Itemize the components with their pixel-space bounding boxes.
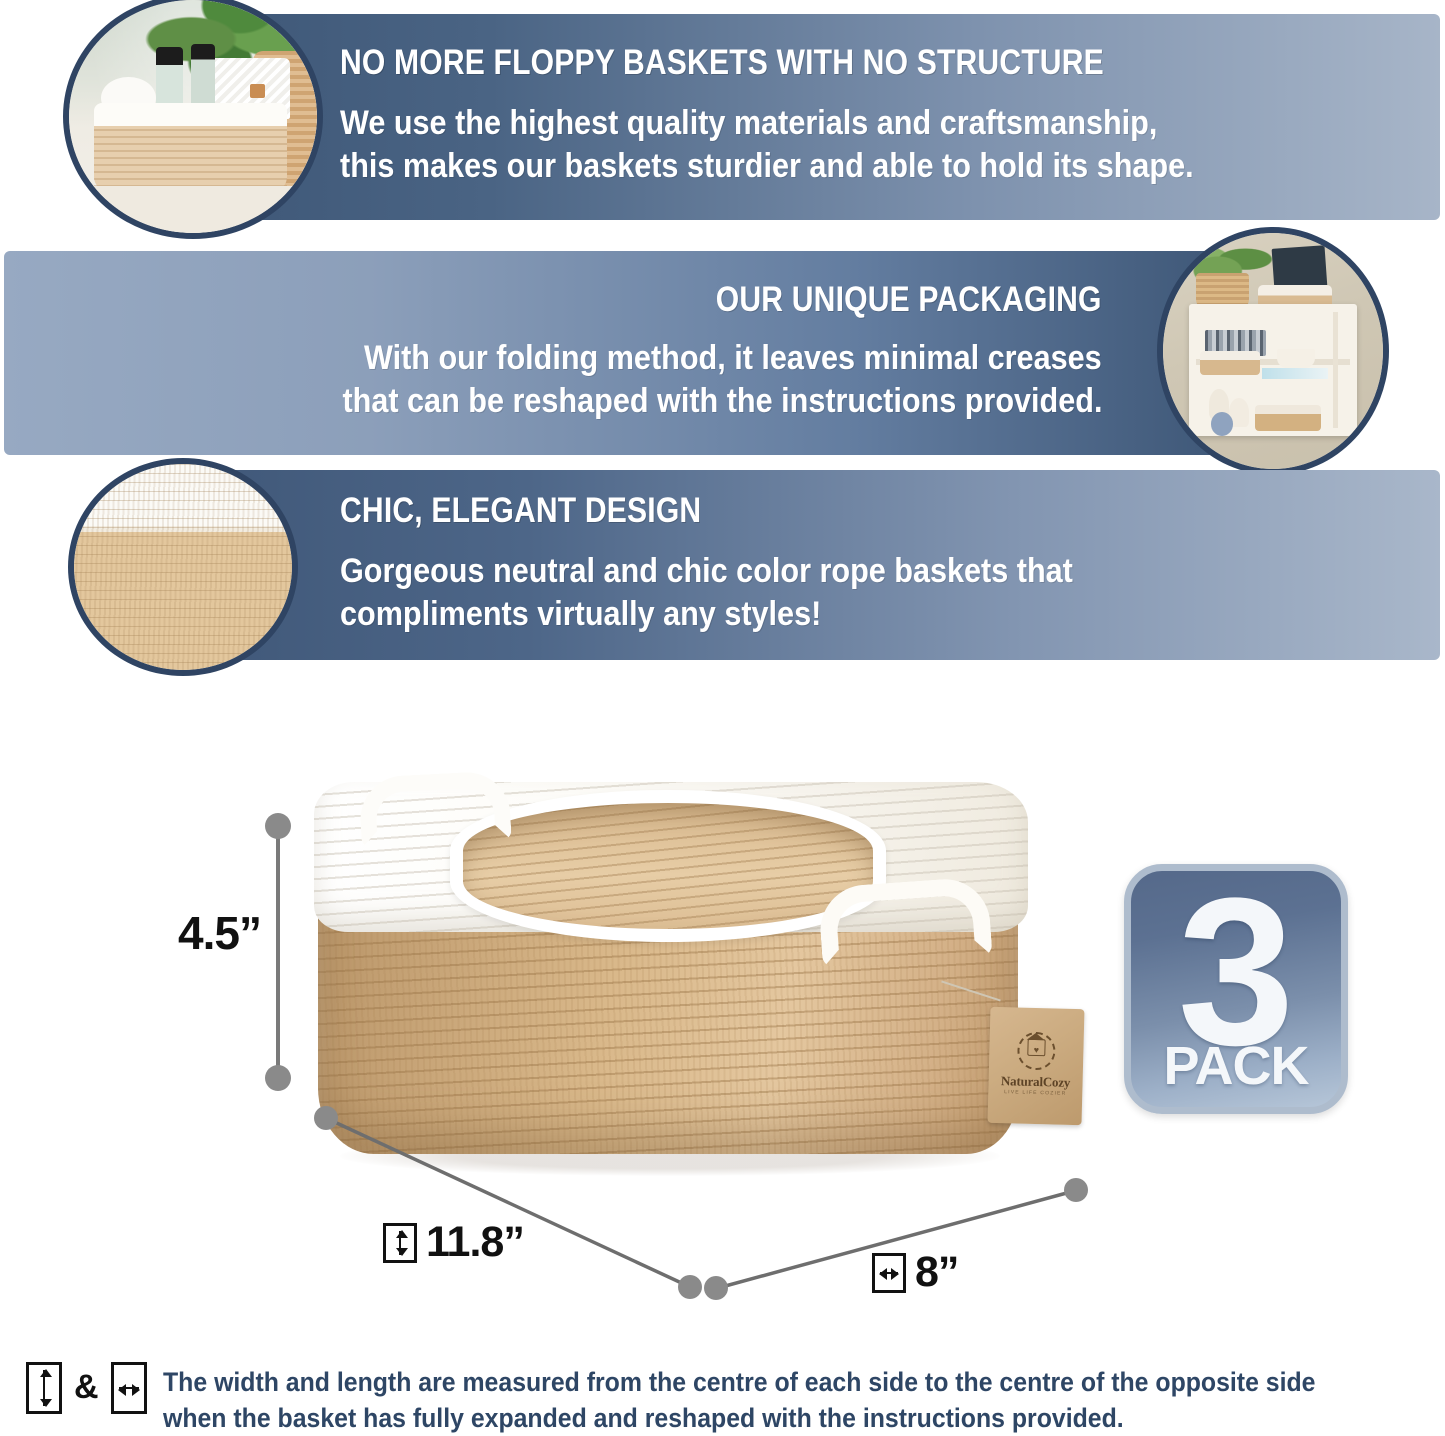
feature-2-body-line-1: With our folding method, it leaves minim…: [364, 337, 1102, 381]
feature-2-body-line-2: that can be reshaped with the instructio…: [342, 380, 1102, 424]
vertical-arrow-icon: [383, 1223, 417, 1263]
dimension-length: 11.8”: [383, 1218, 524, 1267]
horizontal-arrow-icon: [872, 1253, 906, 1293]
horizontal-arrow-icon: [111, 1362, 147, 1414]
feature-1-body-line-2: this makes our baskets sturdier and able…: [340, 145, 1303, 189]
feature-3-photo: [68, 458, 298, 676]
feature-1-title: NO MORE FLOPPY BASKETS WITH NO STRUCTURE: [340, 45, 1260, 82]
dimension-width: 8”: [872, 1248, 958, 1297]
brand-tagline: LIVE LIFE COZIER: [988, 1089, 1082, 1097]
feature-banner-3: CHIC, ELEGANT DESIGN Gorgeous neutral an…: [222, 470, 1440, 660]
feature-banner-2: OUR UNIQUE PACKAGING With our folding me…: [4, 251, 1220, 455]
measurement-footnote: & The width and length are measured from…: [26, 1362, 1426, 1436]
basket-handle-right: [817, 876, 992, 968]
feature-1-body-line-1: We use the highest quality materials and…: [340, 102, 1303, 146]
feature-3-body-line-2: compliments virtually any styles!: [340, 593, 1303, 637]
vertical-arrow-icon: [26, 1362, 62, 1414]
basket-handle-left: [358, 770, 511, 848]
feature-1-photo: [63, 0, 323, 239]
feature-banner-1: NO MORE FLOPPY BASKETS WITH NO STRUCTURE…: [222, 14, 1440, 220]
ampersand-label: &: [74, 1362, 99, 1412]
rope-basket-illustration: ♥ NaturalCozy LIVE LIFE COZIER: [300, 758, 1060, 1210]
dimension-length-value: 11.8”: [426, 1218, 524, 1267]
pack-count-badge: 3 PACK: [1124, 864, 1348, 1114]
brand-hang-tag: ♥ NaturalCozy LIVE LIFE COZIER: [987, 1007, 1084, 1125]
dimension-height: 4.5”: [178, 906, 261, 960]
pack-count-label: PACK: [1131, 1039, 1341, 1093]
dimension-width-value: 8”: [915, 1248, 958, 1297]
product-photo: ♥ NaturalCozy LIVE LIFE COZIER: [300, 758, 1060, 1210]
footnote-line-2: when the basket has fully expanded and r…: [163, 1403, 1124, 1433]
infographic-canvas: NO MORE FLOPPY BASKETS WITH NO STRUCTURE…: [0, 0, 1445, 1432]
feature-2-photo: [1157, 227, 1389, 475]
feature-3-body-line-1: Gorgeous neutral and chic color rope bas…: [340, 550, 1303, 594]
dimension-height-value: 4.5”: [178, 906, 261, 960]
footnote-line-1: The width and length are measured from t…: [163, 1367, 1316, 1397]
feature-2-title: OUR UNIQUE PACKAGING: [716, 282, 1102, 319]
feature-3-title: CHIC, ELEGANT DESIGN: [340, 493, 1260, 530]
footnote-text: The width and length are measured from t…: [163, 1362, 1316, 1436]
